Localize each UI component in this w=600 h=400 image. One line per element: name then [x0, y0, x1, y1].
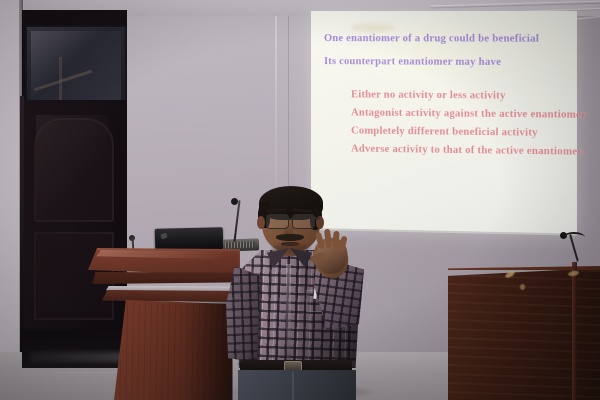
lecture-hall-photo: One enantiomer of a drug could be benefi… [0, 0, 600, 400]
eyeglasses-bridge [286, 218, 293, 220]
transom-window [25, 25, 127, 107]
podium-shelf [102, 290, 238, 302]
slide-bullet-1: Either no activity or less activity [351, 89, 506, 101]
finger [324, 229, 332, 249]
mustache [276, 234, 304, 241]
slide-bullet-2: Antagonist activity against the active e… [351, 107, 586, 120]
standing-presenter [222, 178, 382, 400]
transom-glass [31, 31, 121, 101]
desk-side-rail [572, 262, 577, 400]
transom-reflection [59, 57, 62, 103]
trouser-crease [292, 372, 294, 400]
door-sheen [36, 115, 108, 233]
desk-highlight [520, 284, 525, 290]
left-ear [257, 216, 265, 229]
slide-bullet-3: Completely different beneficial activity [351, 125, 538, 138]
shirt-placket [286, 264, 291, 364]
slide-bullet-4: Adverse activity to that of the active e… [351, 144, 584, 158]
desk-microphone-head [560, 232, 567, 239]
trousers [238, 370, 356, 400]
laptop-logo [160, 233, 167, 240]
slide-heading-line-1: One enantiomer of a drug could be benefi… [324, 33, 539, 45]
slide-heading-line-2: Its counterpart enantiomer may have [324, 56, 501, 68]
left-sleeve-pattern [226, 266, 260, 362]
wooden-podium [88, 248, 240, 400]
podium-lip [91, 272, 239, 284]
